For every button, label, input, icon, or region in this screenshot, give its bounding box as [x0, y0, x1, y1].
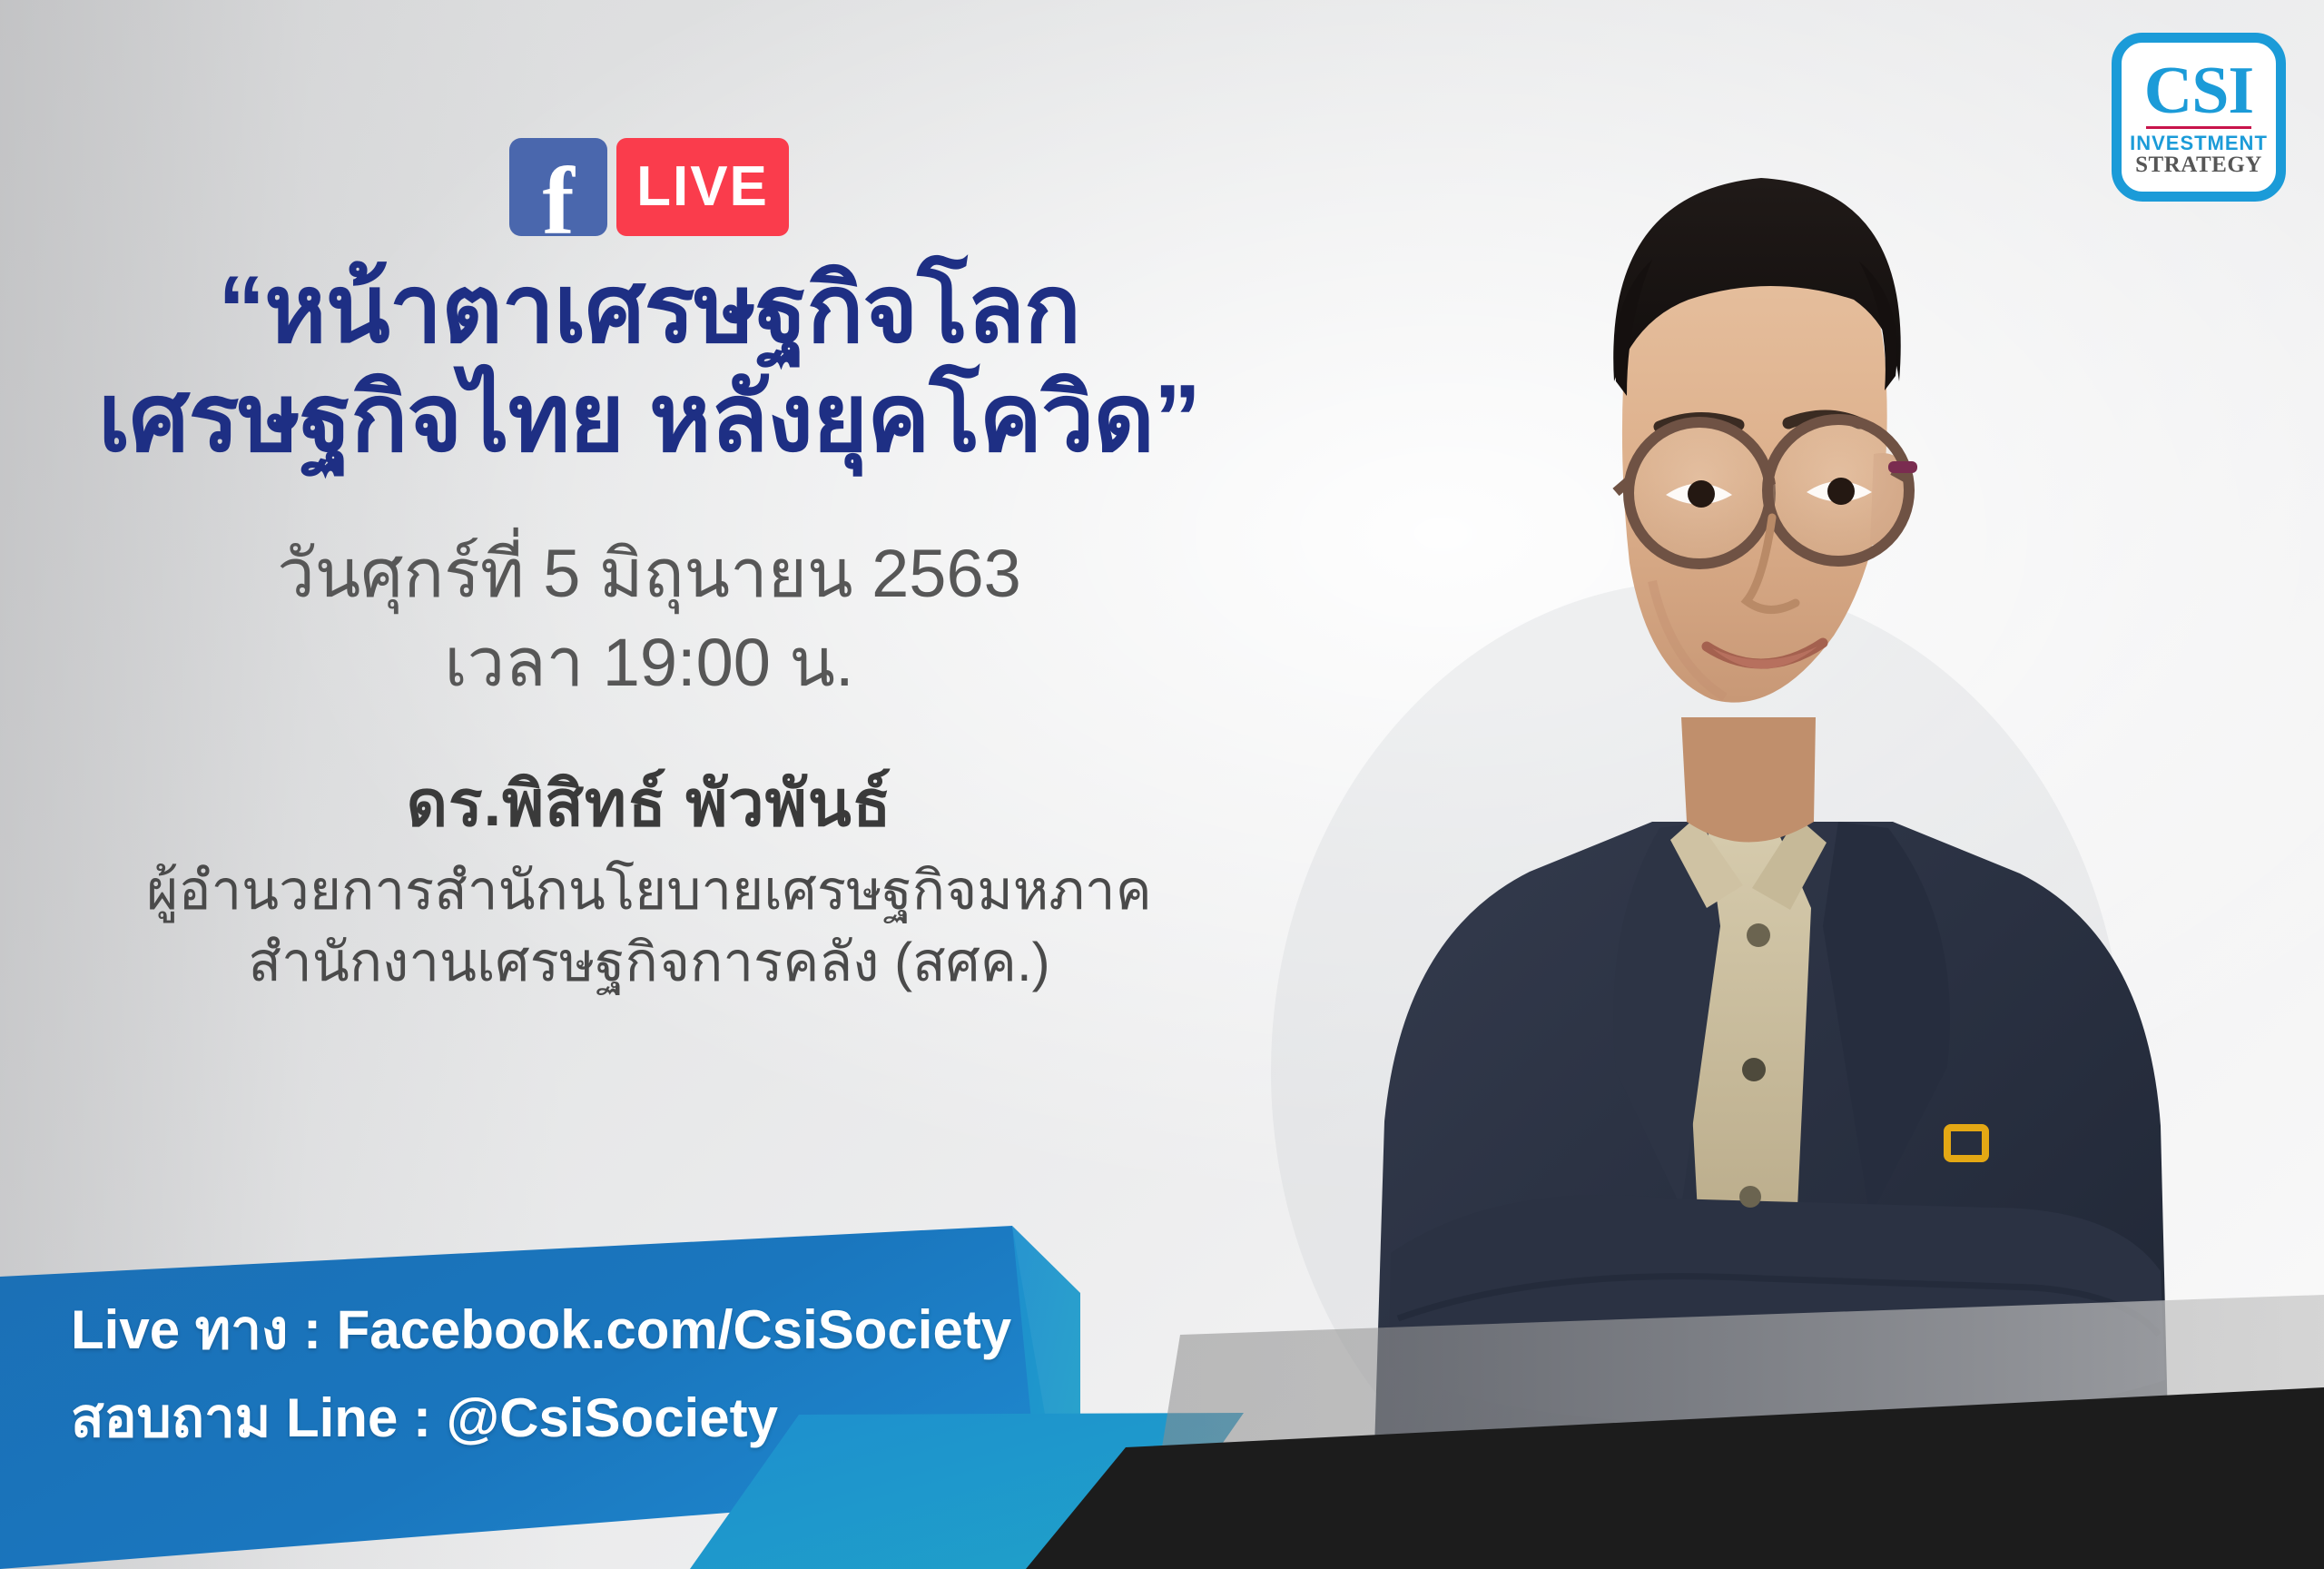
live-badge: LIVE [616, 138, 789, 236]
event-date: วันศุกร์ที่ 5 มิถุนายน 2563 [277, 529, 1021, 618]
speaker-name: ดร.พิสิทธ์ พัวพันธ์ [407, 765, 892, 842]
headline-line-2: เศรษฐกิจไทย หลังยุคโควิด” [0, 365, 1298, 474]
facebook-live-badge: f LIVE [509, 138, 789, 236]
promo-poster: CSI INVESTMENT STRATEGY f LIVE “หน้าตาเศ… [0, 0, 2324, 1569]
speaker-role-line-2: สำนักงานเศรษฐกิจการคลัง (สศค.) [146, 926, 1151, 999]
footer-contact-block: Live ทาง : Facebook.com/CsiSociety สอบถา… [71, 1286, 1011, 1462]
page-title: “หน้าตาเศรษฐกิจโลก เศรษฐกิจไทย หลังยุคโค… [0, 256, 1298, 473]
event-time: เวลา 19:00 น. [277, 618, 1021, 707]
live-label: LIVE [636, 159, 769, 215]
speaker-role-line-1: ผู้อำนวยการสำนักนโยบายเศรษฐกิจมหภาค [146, 854, 1151, 927]
footer-contact-line[interactable]: สอบถาม Line : @CsiSociety [71, 1374, 1011, 1462]
speaker-role: ผู้อำนวยการสำนักนโยบายเศรษฐกิจมหภาค สำนั… [146, 854, 1151, 1000]
schedule-block: วันศุกร์ที่ 5 มิถุนายน 2563 เวลา 19:00 น… [277, 529, 1021, 706]
facebook-icon: f [509, 138, 607, 236]
facebook-f-glyph: f [509, 153, 607, 236]
headline-line-1: “หน้าตาเศรษฐกิจโลก [0, 256, 1298, 365]
footer-live-channel[interactable]: Live ทาง : Facebook.com/CsiSociety [71, 1286, 1011, 1374]
